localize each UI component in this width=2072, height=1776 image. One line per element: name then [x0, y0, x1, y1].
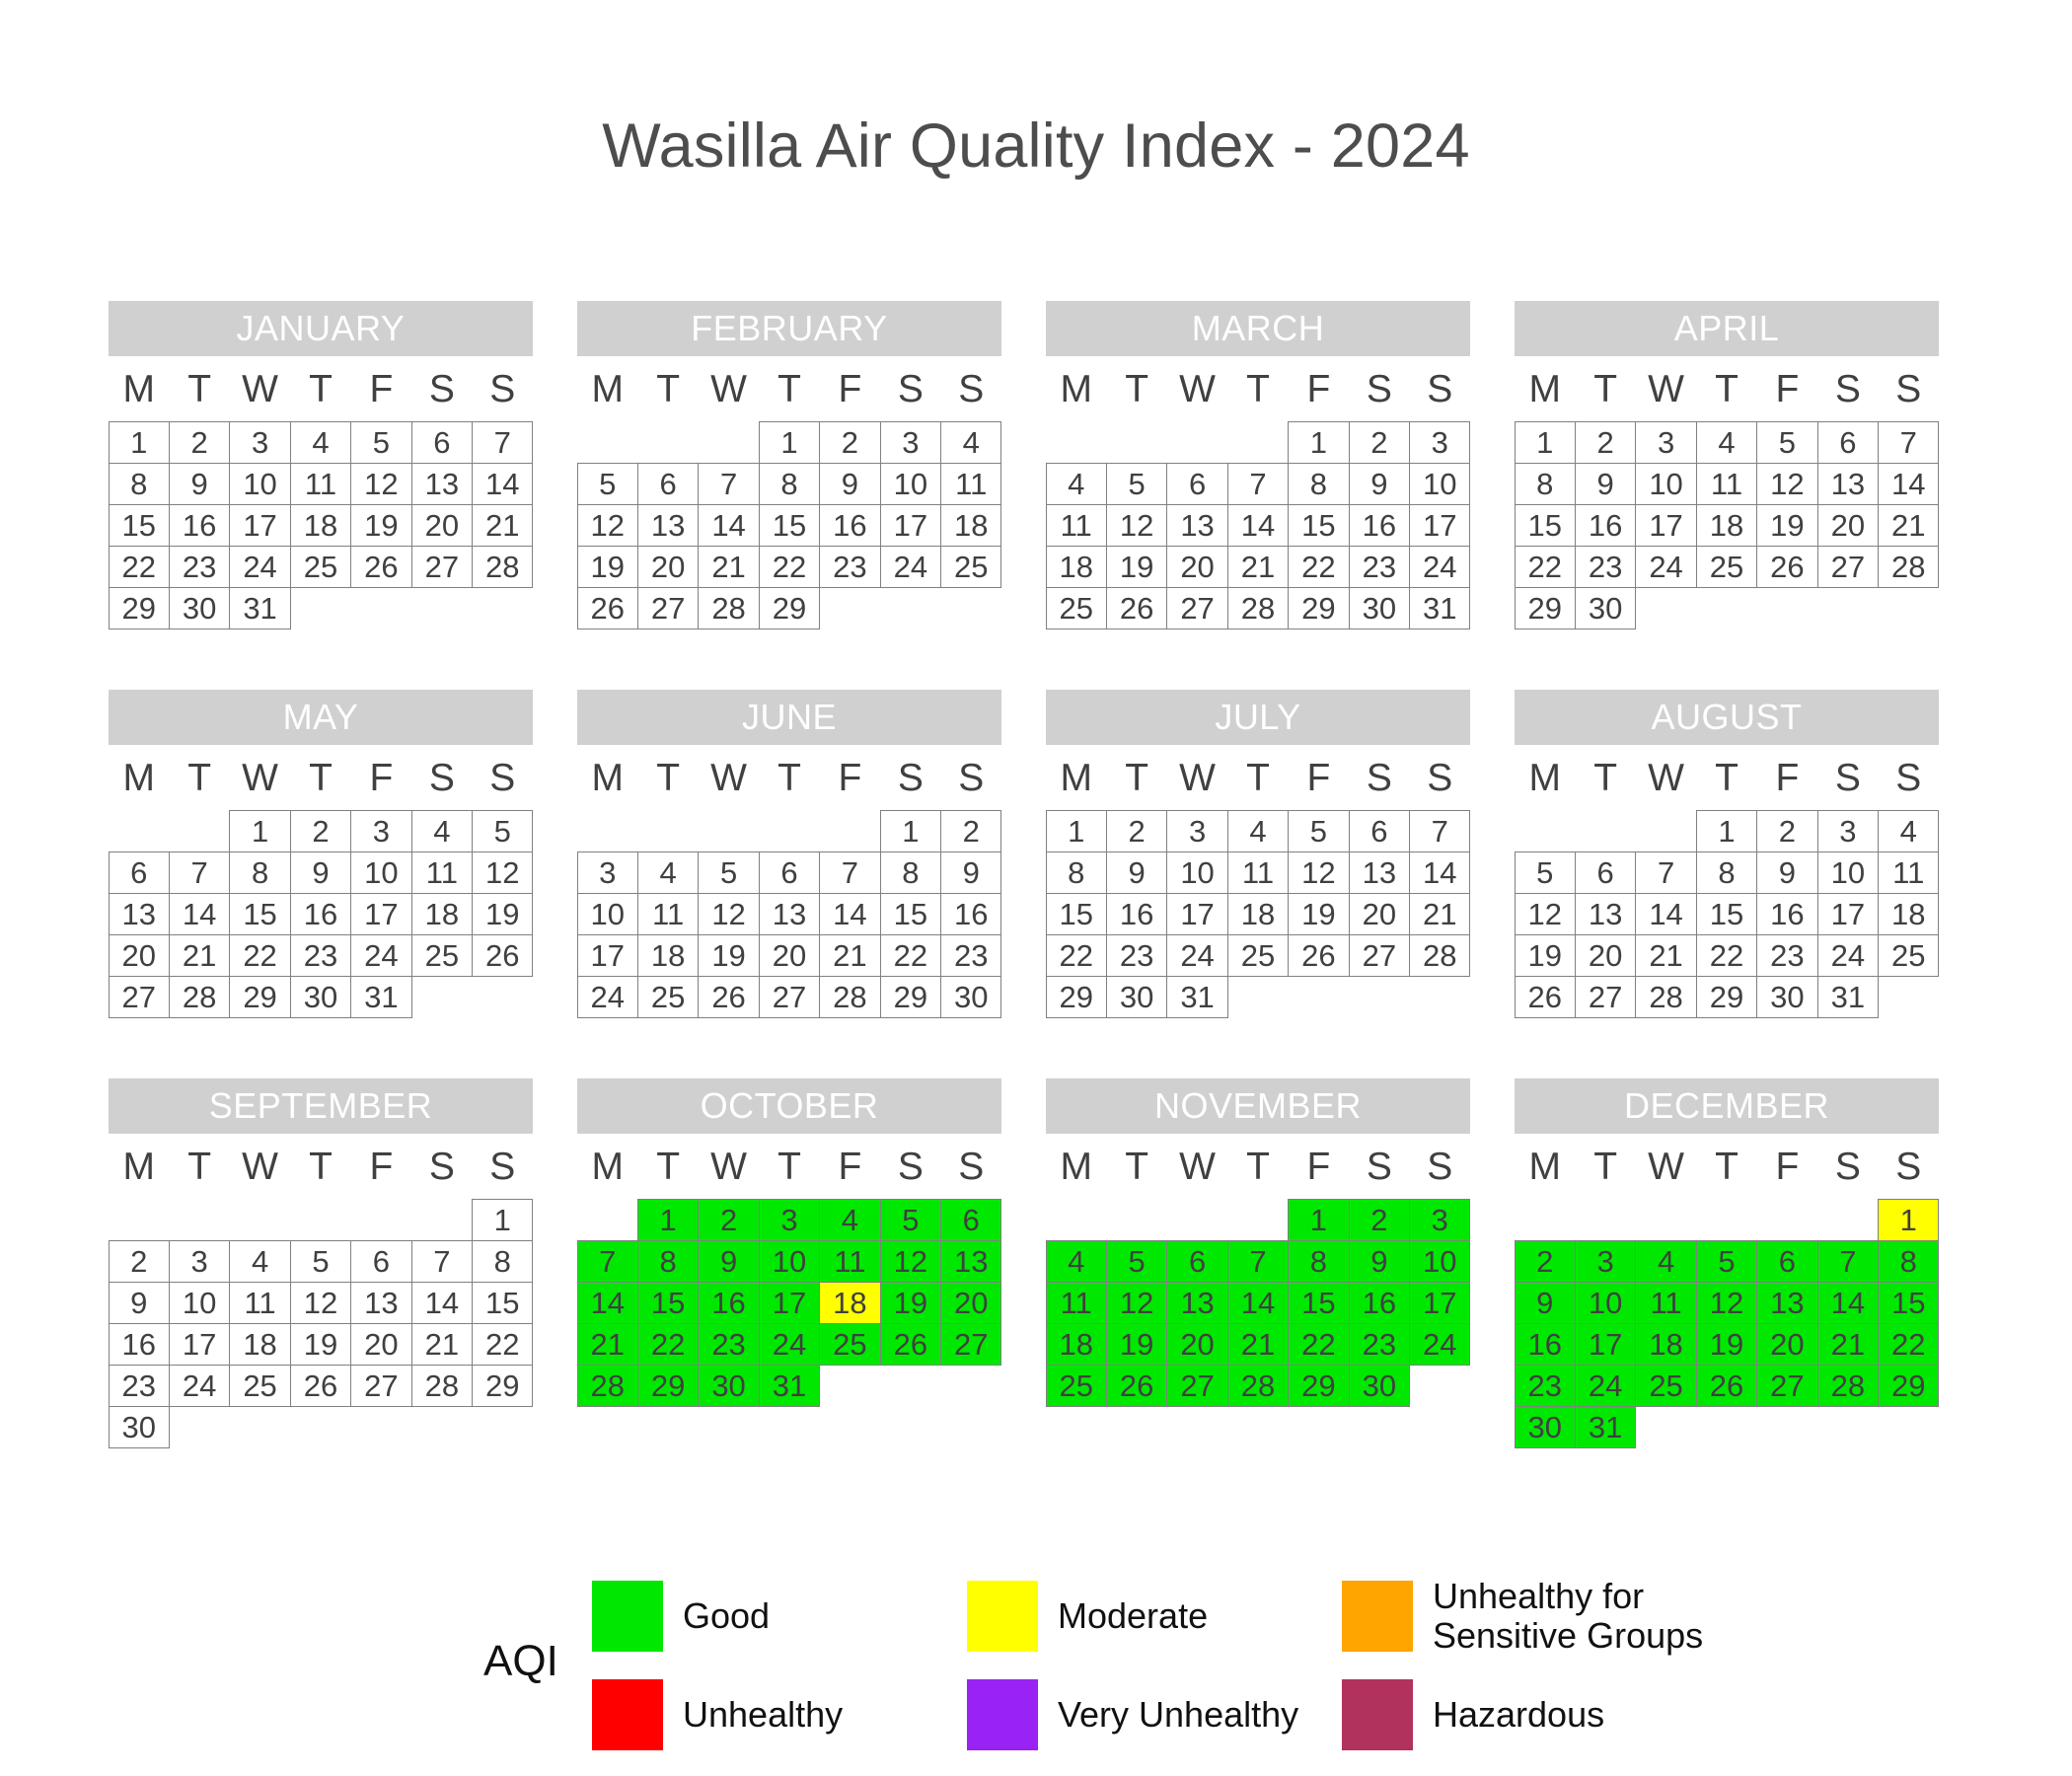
day-cell[interactable]: 12 — [350, 463, 411, 505]
day-cell[interactable]: 28 — [472, 546, 533, 588]
day-cell[interactable]: 26 — [472, 934, 533, 977]
day-cell[interactable]: 22 — [472, 1323, 533, 1366]
day-cell[interactable]: 19 — [290, 1323, 351, 1366]
day-cell[interactable]: 17 — [169, 1323, 230, 1366]
day-cell[interactable]: 13 — [1166, 1282, 1227, 1324]
day-cell[interactable]: 3 — [1635, 421, 1696, 464]
day-cell[interactable]: 23 — [169, 546, 230, 588]
day-cell[interactable]: 6 — [637, 463, 699, 505]
day-cell[interactable]: 2 — [1756, 810, 1817, 852]
day-cell[interactable]: 19 — [1106, 1323, 1167, 1366]
day-cell[interactable]: 16 — [169, 504, 230, 547]
day-cell[interactable]: 26 — [880, 1323, 941, 1366]
day-cell[interactable]: 9 — [1515, 1282, 1576, 1324]
day-cell[interactable]: 23 — [1515, 1365, 1576, 1407]
day-cell[interactable]: 11 — [1227, 851, 1289, 894]
day-cell[interactable]: 13 — [637, 504, 699, 547]
day-cell[interactable]: 25 — [1046, 587, 1107, 629]
day-cell[interactable]: 21 — [472, 504, 533, 547]
day-cell[interactable]: 15 — [1288, 1282, 1349, 1324]
day-cell[interactable]: 26 — [290, 1365, 351, 1407]
day-cell[interactable]: 13 — [1166, 504, 1227, 547]
day-cell[interactable]: 9 — [1349, 1240, 1410, 1283]
day-cell[interactable]: 11 — [1046, 1282, 1107, 1324]
day-cell[interactable]: 5 — [1106, 463, 1167, 505]
day-cell[interactable]: 19 — [1756, 504, 1817, 547]
day-cell[interactable]: 15 — [759, 504, 820, 547]
day-cell[interactable]: 22 — [1696, 934, 1757, 977]
day-cell[interactable]: 17 — [1817, 893, 1879, 935]
day-cell[interactable]: 7 — [1817, 1240, 1879, 1283]
day-cell[interactable]: 3 — [880, 421, 941, 464]
day-cell[interactable]: 4 — [1696, 421, 1757, 464]
day-cell[interactable]: 2 — [1349, 421, 1410, 464]
day-cell[interactable]: 7 — [1878, 421, 1939, 464]
day-cell[interactable]: 6 — [1575, 851, 1636, 894]
day-cell[interactable]: 11 — [819, 1240, 880, 1283]
day-cell[interactable]: 26 — [1288, 934, 1349, 977]
day-cell[interactable]: 2 — [1515, 1240, 1576, 1283]
day-cell[interactable]: 6 — [759, 851, 820, 894]
day-cell[interactable]: 23 — [1756, 934, 1817, 977]
day-cell[interactable]: 23 — [1349, 546, 1410, 588]
day-cell[interactable]: 15 — [472, 1282, 533, 1324]
day-cell[interactable]: 26 — [350, 546, 411, 588]
day-cell[interactable]: 1 — [472, 1199, 533, 1241]
day-cell[interactable]: 10 — [1575, 1282, 1636, 1324]
day-cell[interactable]: 19 — [350, 504, 411, 547]
day-cell[interactable]: 3 — [1817, 810, 1879, 852]
day-cell[interactable]: 21 — [1227, 546, 1289, 588]
day-cell[interactable]: 10 — [1166, 851, 1227, 894]
day-cell[interactable]: 30 — [1349, 1365, 1410, 1407]
day-cell[interactable]: 27 — [350, 1365, 411, 1407]
day-cell[interactable]: 10 — [1817, 851, 1879, 894]
day-cell[interactable]: 23 — [290, 934, 351, 977]
day-cell[interactable]: 25 — [229, 1365, 290, 1407]
day-cell[interactable]: 5 — [472, 810, 533, 852]
day-cell[interactable]: 8 — [1288, 463, 1349, 505]
legend-item[interactable]: Unhealthy for Sensitive Groups — [1342, 1567, 1717, 1665]
day-cell[interactable]: 21 — [411, 1323, 473, 1366]
day-cell[interactable]: 17 — [1575, 1323, 1636, 1366]
day-cell[interactable]: 28 — [1635, 976, 1696, 1018]
day-cell[interactable]: 14 — [1409, 851, 1470, 894]
day-cell[interactable]: 9 — [1349, 463, 1410, 505]
day-cell[interactable]: 26 — [1696, 1365, 1757, 1407]
day-cell[interactable]: 1 — [759, 421, 820, 464]
day-cell[interactable]: 10 — [1409, 463, 1470, 505]
day-cell[interactable]: 21 — [1817, 1323, 1879, 1366]
day-cell[interactable]: 21 — [1409, 893, 1470, 935]
day-cell[interactable]: 8 — [637, 1240, 699, 1283]
day-cell[interactable]: 8 — [1046, 851, 1107, 894]
day-cell[interactable]: 7 — [1227, 463, 1289, 505]
day-cell[interactable]: 3 — [577, 851, 638, 894]
day-cell[interactable]: 22 — [229, 934, 290, 977]
legend-item[interactable]: Very Unhealthy — [967, 1665, 1342, 1764]
day-cell[interactable]: 14 — [577, 1282, 638, 1324]
day-cell[interactable]: 22 — [759, 546, 820, 588]
day-cell[interactable]: 30 — [169, 587, 230, 629]
day-cell[interactable]: 27 — [759, 976, 820, 1018]
day-cell[interactable]: 19 — [880, 1282, 941, 1324]
day-cell[interactable]: 25 — [940, 546, 1001, 588]
day-cell[interactable]: 17 — [1635, 504, 1696, 547]
day-cell[interactable]: 10 — [759, 1240, 820, 1283]
day-cell[interactable]: 18 — [1046, 546, 1107, 588]
day-cell[interactable]: 17 — [1409, 1282, 1470, 1324]
day-cell[interactable]: 21 — [169, 934, 230, 977]
day-cell[interactable]: 25 — [637, 976, 699, 1018]
day-cell[interactable]: 23 — [109, 1365, 170, 1407]
day-cell[interactable]: 28 — [1409, 934, 1470, 977]
day-cell[interactable]: 31 — [1409, 587, 1470, 629]
day-cell[interactable]: 1 — [1288, 421, 1349, 464]
day-cell[interactable]: 25 — [411, 934, 473, 977]
day-cell[interactable]: 6 — [1166, 1240, 1227, 1283]
day-cell[interactable]: 29 — [1696, 976, 1757, 1018]
day-cell[interactable]: 23 — [940, 934, 1001, 977]
day-cell[interactable]: 7 — [472, 421, 533, 464]
day-cell[interactable]: 20 — [637, 546, 699, 588]
day-cell[interactable]: 16 — [1349, 1282, 1410, 1324]
day-cell[interactable]: 15 — [1878, 1282, 1939, 1324]
day-cell[interactable]: 23 — [819, 546, 880, 588]
day-cell[interactable]: 19 — [1106, 546, 1167, 588]
day-cell[interactable]: 20 — [1349, 893, 1410, 935]
day-cell[interactable]: 29 — [759, 587, 820, 629]
day-cell[interactable]: 12 — [1106, 1282, 1167, 1324]
day-cell[interactable]: 4 — [290, 421, 351, 464]
day-cell[interactable]: 3 — [350, 810, 411, 852]
day-cell[interactable]: 10 — [169, 1282, 230, 1324]
day-cell[interactable]: 14 — [411, 1282, 473, 1324]
day-cell[interactable]: 6 — [940, 1199, 1001, 1241]
day-cell[interactable]: 26 — [698, 976, 759, 1018]
day-cell[interactable]: 3 — [1409, 421, 1470, 464]
day-cell[interactable]: 21 — [577, 1323, 638, 1366]
day-cell[interactable]: 30 — [290, 976, 351, 1018]
day-cell[interactable]: 12 — [1288, 851, 1349, 894]
day-cell[interactable]: 8 — [1696, 851, 1757, 894]
day-cell[interactable]: 4 — [1878, 810, 1939, 852]
day-cell[interactable]: 18 — [637, 934, 699, 977]
day-cell[interactable]: 23 — [1106, 934, 1167, 977]
day-cell[interactable]: 27 — [1817, 546, 1879, 588]
day-cell[interactable]: 18 — [940, 504, 1001, 547]
day-cell[interactable]: 11 — [1635, 1282, 1696, 1324]
day-cell[interactable]: 13 — [1756, 1282, 1817, 1324]
day-cell[interactable]: 1 — [109, 421, 170, 464]
day-cell[interactable]: 11 — [229, 1282, 290, 1324]
day-cell[interactable]: 24 — [1409, 1323, 1470, 1366]
day-cell[interactable]: 13 — [411, 463, 473, 505]
day-cell[interactable]: 11 — [1046, 504, 1107, 547]
day-cell[interactable]: 25 — [1635, 1365, 1696, 1407]
day-cell[interactable]: 23 — [698, 1323, 759, 1366]
day-cell[interactable]: 2 — [698, 1199, 759, 1241]
day-cell[interactable]: 14 — [1817, 1282, 1879, 1324]
day-cell[interactable]: 1 — [1515, 421, 1576, 464]
day-cell[interactable]: 31 — [1817, 976, 1879, 1018]
day-cell[interactable]: 17 — [759, 1282, 820, 1324]
day-cell[interactable]: 2 — [290, 810, 351, 852]
day-cell[interactable]: 13 — [759, 893, 820, 935]
day-cell[interactable]: 4 — [411, 810, 473, 852]
day-cell[interactable]: 19 — [1515, 934, 1576, 977]
day-cell[interactable]: 5 — [1288, 810, 1349, 852]
day-cell[interactable]: 1 — [229, 810, 290, 852]
day-cell[interactable]: 17 — [350, 893, 411, 935]
legend-item[interactable]: Moderate — [967, 1567, 1342, 1665]
day-cell[interactable]: 30 — [1756, 976, 1817, 1018]
day-cell[interactable]: 12 — [1756, 463, 1817, 505]
day-cell[interactable]: 20 — [1756, 1323, 1817, 1366]
day-cell[interactable]: 21 — [1227, 1323, 1289, 1366]
day-cell[interactable]: 11 — [637, 893, 699, 935]
day-cell[interactable]: 25 — [1696, 546, 1757, 588]
day-cell[interactable]: 1 — [1696, 810, 1757, 852]
day-cell[interactable]: 29 — [1515, 587, 1576, 629]
day-cell[interactable]: 24 — [759, 1323, 820, 1366]
day-cell[interactable]: 24 — [1817, 934, 1879, 977]
day-cell[interactable]: 8 — [109, 463, 170, 505]
day-cell[interactable]: 13 — [940, 1240, 1001, 1283]
day-cell[interactable]: 12 — [880, 1240, 941, 1283]
day-cell[interactable]: 9 — [940, 851, 1001, 894]
day-cell[interactable]: 30 — [1106, 976, 1167, 1018]
day-cell[interactable]: 29 — [229, 976, 290, 1018]
day-cell[interactable]: 1 — [880, 810, 941, 852]
day-cell[interactable]: 6 — [350, 1240, 411, 1283]
day-cell[interactable]: 27 — [411, 546, 473, 588]
day-cell[interactable]: 7 — [819, 851, 880, 894]
day-cell[interactable]: 10 — [1635, 463, 1696, 505]
day-cell[interactable]: 2 — [940, 810, 1001, 852]
day-cell[interactable]: 8 — [880, 851, 941, 894]
day-cell[interactable]: 15 — [1288, 504, 1349, 547]
day-cell[interactable]: 24 — [577, 976, 638, 1018]
day-cell[interactable]: 15 — [880, 893, 941, 935]
day-cell[interactable]: 28 — [1227, 587, 1289, 629]
day-cell[interactable]: 20 — [411, 504, 473, 547]
day-cell[interactable]: 15 — [637, 1282, 699, 1324]
day-cell[interactable]: 28 — [1227, 1365, 1289, 1407]
day-cell[interactable]: 9 — [1575, 463, 1636, 505]
day-cell[interactable]: 7 — [1635, 851, 1696, 894]
day-cell[interactable]: 16 — [819, 504, 880, 547]
day-cell[interactable]: 24 — [1575, 1365, 1636, 1407]
day-cell[interactable]: 29 — [1046, 976, 1107, 1018]
day-cell[interactable]: 3 — [759, 1199, 820, 1241]
day-cell[interactable]: 16 — [1515, 1323, 1576, 1366]
day-cell[interactable]: 4 — [819, 1199, 880, 1241]
day-cell[interactable]: 26 — [577, 587, 638, 629]
day-cell[interactable]: 5 — [577, 463, 638, 505]
day-cell[interactable]: 30 — [1575, 587, 1636, 629]
day-cell[interactable]: 22 — [637, 1323, 699, 1366]
day-cell[interactable]: 19 — [472, 893, 533, 935]
day-cell[interactable]: 29 — [1288, 1365, 1349, 1407]
day-cell[interactable]: 18 — [1227, 893, 1289, 935]
day-cell[interactable]: 26 — [1106, 1365, 1167, 1407]
day-cell[interactable]: 28 — [1878, 546, 1939, 588]
day-cell[interactable]: 11 — [411, 851, 473, 894]
day-cell[interactable]: 20 — [1166, 546, 1227, 588]
day-cell[interactable]: 22 — [1878, 1323, 1939, 1366]
day-cell[interactable]: 8 — [472, 1240, 533, 1283]
day-cell[interactable]: 13 — [1349, 851, 1410, 894]
day-cell[interactable]: 10 — [1409, 1240, 1470, 1283]
day-cell[interactable]: 16 — [940, 893, 1001, 935]
day-cell[interactable]: 25 — [1227, 934, 1289, 977]
day-cell[interactable]: 6 — [1817, 421, 1879, 464]
day-cell[interactable]: 22 — [1046, 934, 1107, 977]
day-cell[interactable]: 20 — [1817, 504, 1879, 547]
legend-item[interactable]: Hazardous — [1342, 1665, 1717, 1764]
day-cell[interactable]: 11 — [940, 463, 1001, 505]
day-cell[interactable]: 9 — [1756, 851, 1817, 894]
day-cell[interactable]: 10 — [880, 463, 941, 505]
day-cell[interactable]: 25 — [819, 1323, 880, 1366]
day-cell[interactable]: 10 — [229, 463, 290, 505]
day-cell[interactable]: 27 — [1166, 587, 1227, 629]
day-cell[interactable]: 11 — [290, 463, 351, 505]
day-cell[interactable]: 31 — [1575, 1406, 1636, 1448]
day-cell[interactable]: 20 — [109, 934, 170, 977]
day-cell[interactable]: 5 — [290, 1240, 351, 1283]
day-cell[interactable]: 29 — [637, 1365, 699, 1407]
day-cell[interactable]: 3 — [1409, 1199, 1470, 1241]
day-cell[interactable]: 9 — [698, 1240, 759, 1283]
day-cell[interactable]: 16 — [290, 893, 351, 935]
day-cell[interactable]: 25 — [1046, 1365, 1107, 1407]
day-cell[interactable]: 7 — [1409, 810, 1470, 852]
day-cell[interactable]: 26 — [1515, 976, 1576, 1018]
day-cell[interactable]: 6 — [1756, 1240, 1817, 1283]
day-cell[interactable]: 11 — [1878, 851, 1939, 894]
day-cell[interactable]: 10 — [577, 893, 638, 935]
day-cell[interactable]: 15 — [229, 893, 290, 935]
day-cell[interactable]: 20 — [1575, 934, 1636, 977]
day-cell[interactable]: 21 — [819, 934, 880, 977]
day-cell[interactable]: 9 — [169, 463, 230, 505]
day-cell[interactable]: 14 — [472, 463, 533, 505]
day-cell[interactable]: 2 — [1349, 1199, 1410, 1241]
day-cell[interactable]: 22 — [1288, 1323, 1349, 1366]
day-cell[interactable]: 16 — [1575, 504, 1636, 547]
day-cell[interactable]: 16 — [698, 1282, 759, 1324]
day-cell[interactable]: 7 — [169, 851, 230, 894]
day-cell[interactable]: 17 — [1409, 504, 1470, 547]
legend-item[interactable]: Unhealthy — [592, 1665, 967, 1764]
day-cell[interactable]: 30 — [1349, 587, 1410, 629]
day-cell[interactable]: 6 — [411, 421, 473, 464]
day-cell[interactable]: 4 — [940, 421, 1001, 464]
day-cell[interactable]: 12 — [1106, 504, 1167, 547]
day-cell[interactable]: 21 — [1635, 934, 1696, 977]
day-cell[interactable]: 18 — [229, 1323, 290, 1366]
day-cell[interactable]: 22 — [1515, 546, 1576, 588]
day-cell[interactable]: 12 — [290, 1282, 351, 1324]
day-cell[interactable]: 18 — [1635, 1323, 1696, 1366]
day-cell[interactable]: 12 — [1696, 1282, 1757, 1324]
day-cell[interactable]: 19 — [577, 546, 638, 588]
day-cell[interactable]: 9 — [290, 851, 351, 894]
day-cell[interactable]: 15 — [109, 504, 170, 547]
day-cell[interactable]: 25 — [290, 546, 351, 588]
day-cell[interactable]: 22 — [880, 934, 941, 977]
day-cell[interactable]: 13 — [1575, 893, 1636, 935]
day-cell[interactable]: 18 — [819, 1282, 880, 1324]
day-cell[interactable]: 21 — [1878, 504, 1939, 547]
day-cell[interactable]: 14 — [1227, 504, 1289, 547]
day-cell[interactable]: 5 — [1515, 851, 1576, 894]
day-cell[interactable]: 24 — [1166, 934, 1227, 977]
day-cell[interactable]: 12 — [1515, 893, 1576, 935]
day-cell[interactable]: 8 — [759, 463, 820, 505]
day-cell[interactable]: 8 — [1515, 463, 1576, 505]
day-cell[interactable]: 22 — [109, 546, 170, 588]
day-cell[interactable]: 8 — [229, 851, 290, 894]
day-cell[interactable]: 6 — [1166, 463, 1227, 505]
day-cell[interactable]: 31 — [759, 1365, 820, 1407]
day-cell[interactable]: 17 — [880, 504, 941, 547]
day-cell[interactable]: 31 — [1166, 976, 1227, 1018]
day-cell[interactable]: 24 — [880, 546, 941, 588]
day-cell[interactable]: 28 — [169, 976, 230, 1018]
day-cell[interactable]: 28 — [577, 1365, 638, 1407]
day-cell[interactable]: 5 — [350, 421, 411, 464]
day-cell[interactable]: 13 — [1817, 463, 1879, 505]
day-cell[interactable]: 28 — [411, 1365, 473, 1407]
day-cell[interactable]: 3 — [229, 421, 290, 464]
day-cell[interactable]: 14 — [1878, 463, 1939, 505]
day-cell[interactable]: 17 — [1166, 893, 1227, 935]
day-cell[interactable]: 28 — [819, 976, 880, 1018]
day-cell[interactable]: 15 — [1696, 893, 1757, 935]
day-cell[interactable]: 9 — [1106, 851, 1167, 894]
day-cell[interactable]: 5 — [698, 851, 759, 894]
day-cell[interactable]: 5 — [1106, 1240, 1167, 1283]
day-cell[interactable]: 24 — [229, 546, 290, 588]
day-cell[interactable]: 5 — [880, 1199, 941, 1241]
day-cell[interactable]: 1 — [1878, 1199, 1939, 1241]
day-cell[interactable]: 16 — [109, 1323, 170, 1366]
day-cell[interactable]: 9 — [819, 463, 880, 505]
day-cell[interactable]: 30 — [698, 1365, 759, 1407]
day-cell[interactable]: 2 — [1575, 421, 1636, 464]
day-cell[interactable]: 18 — [1878, 893, 1939, 935]
day-cell[interactable]: 1 — [1046, 810, 1107, 852]
day-cell[interactable]: 4 — [637, 851, 699, 894]
day-cell[interactable]: 15 — [1515, 504, 1576, 547]
day-cell[interactable]: 2 — [109, 1240, 170, 1283]
day-cell[interactable]: 24 — [1635, 546, 1696, 588]
day-cell[interactable]: 7 — [411, 1240, 473, 1283]
day-cell[interactable]: 16 — [1349, 504, 1410, 547]
day-cell[interactable]: 29 — [472, 1365, 533, 1407]
day-cell[interactable]: 8 — [1878, 1240, 1939, 1283]
day-cell[interactable]: 13 — [350, 1282, 411, 1324]
day-cell[interactable]: 12 — [698, 893, 759, 935]
day-cell[interactable]: 4 — [1227, 810, 1289, 852]
day-cell[interactable]: 30 — [109, 1406, 170, 1448]
day-cell[interactable]: 18 — [1696, 504, 1757, 547]
day-cell[interactable]: 27 — [1756, 1365, 1817, 1407]
day-cell[interactable]: 17 — [577, 934, 638, 977]
